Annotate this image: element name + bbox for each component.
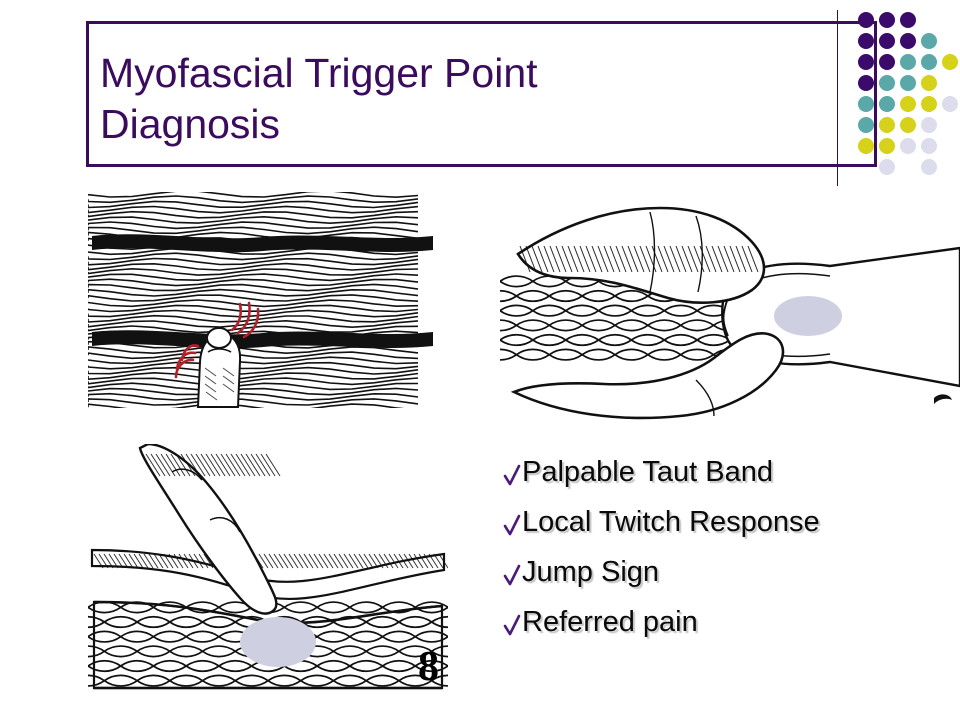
list-item[interactable]: Local Twitch Response [503, 506, 903, 544]
slide-canvas: Myofascial Trigger Point Diagnosis [0, 0, 960, 720]
decor-dot-lavender [921, 138, 937, 154]
dot-grid-decoration [852, 8, 960, 170]
taut-band-svg [88, 192, 437, 408]
decor-dot-yellow [900, 117, 916, 133]
decor-dot-yellow [921, 96, 937, 112]
diagnostic-criteria-list: Palpable Taut Band Local Twitch Response… [503, 456, 903, 656]
decor-dot-purple [858, 54, 874, 70]
decor-dot-yellow [879, 117, 895, 133]
checkmark-icon [503, 513, 521, 539]
list-item[interactable]: Palpable Taut Band [503, 456, 903, 494]
decor-dot-teal [879, 75, 895, 91]
decor-dot-yellow [858, 138, 874, 154]
list-item-label: Jump Sign [522, 556, 659, 589]
decor-dot-lavender [921, 159, 937, 175]
decor-dot-yellow [879, 138, 895, 154]
flat-palpation-svg: 8 [88, 444, 448, 694]
decor-dot-purple [879, 33, 895, 49]
checkmark-icon [503, 563, 521, 589]
decor-dot-purple [900, 12, 916, 28]
decor-dot-purple [858, 33, 874, 49]
decor-dot-teal [858, 117, 874, 133]
decor-dot-teal [879, 96, 895, 112]
list-item[interactable]: Referred pain [503, 606, 903, 644]
list-item-label: Referred pain [522, 606, 698, 639]
decor-dot-teal [900, 75, 916, 91]
decor-dot-purple [879, 54, 895, 70]
figure-number: 8 [418, 644, 439, 690]
decor-dot-teal [900, 54, 916, 70]
decor-dot-purple [858, 12, 874, 28]
decor-dot-yellow [921, 75, 937, 91]
checkmark-icon [503, 463, 521, 489]
decor-dot-yellow [942, 54, 958, 70]
list-item[interactable]: Jump Sign [503, 556, 903, 594]
decor-dot-purple [879, 12, 895, 28]
decor-dot-purple [900, 33, 916, 49]
list-item-label: Local Twitch Response [522, 506, 820, 539]
decor-dot-teal [921, 33, 937, 49]
decor-dot-teal [858, 96, 874, 112]
pincer-svg [500, 186, 960, 422]
trigger-point-marker [774, 296, 842, 336]
flat-palpation-illustration: 8 [88, 444, 448, 694]
page-title: Myofascial Trigger Point Diagnosis [100, 48, 840, 150]
trigger-point-marker [240, 617, 316, 667]
checkmark-icon [503, 613, 521, 639]
pincer-palpation-illustration [500, 186, 960, 422]
decor-dot-purple [858, 75, 874, 91]
decor-dot-teal [921, 54, 937, 70]
decor-dot-lavender [942, 96, 958, 112]
decor-dot-lavender [879, 159, 895, 175]
decor-dot-yellow [900, 96, 916, 112]
decor-dot-lavender [900, 138, 916, 154]
muscle-taut-band-illustration [88, 192, 437, 408]
list-item-label: Palpable Taut Band [522, 456, 773, 489]
decor-dot-lavender [921, 117, 937, 133]
